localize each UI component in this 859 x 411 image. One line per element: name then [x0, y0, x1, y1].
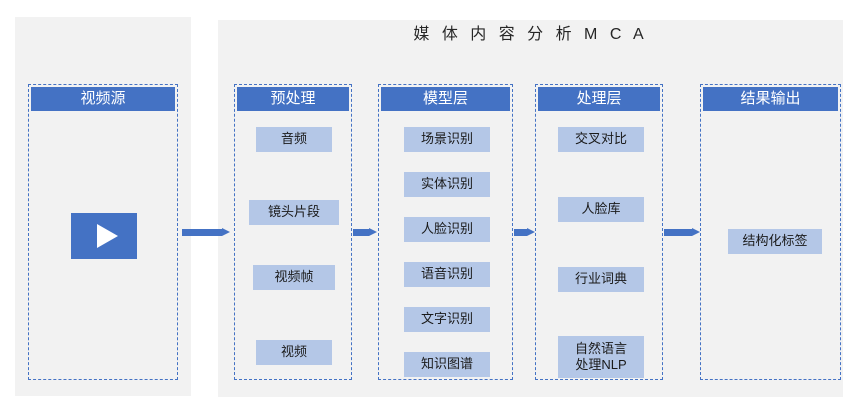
list-item[interactable]: 语音识别 [404, 262, 490, 287]
arrow-shaft [664, 229, 692, 236]
column-body-processing-layer: 交叉对比 人脸库 行业词典 自然语言 处理NLP [536, 113, 662, 379]
list-item[interactable]: 交叉对比 [558, 127, 644, 152]
arrow-head [692, 228, 700, 236]
list-item[interactable]: 实体识别 [404, 172, 490, 197]
column-body-model-layer: 场景识别 实体识别 人脸识别 语音识别 文字识别 知识图谱 [379, 113, 512, 379]
arrow-shaft [353, 229, 369, 236]
arrow-model-to-processing [514, 228, 535, 237]
arrow-head [527, 228, 535, 236]
list-item[interactable]: 人脸库 [558, 197, 644, 222]
arrow-shaft [182, 229, 222, 236]
column-header-result-output: 结果输出 [703, 87, 838, 111]
play-triangle-icon [97, 224, 118, 248]
arrow-head [222, 228, 230, 236]
list-item[interactable]: 结构化标签 [728, 229, 822, 254]
play-button-icon[interactable] [71, 213, 137, 259]
column-model-layer[interactable]: 模型层 场景识别 实体识别 人脸识别 语音识别 文字识别 知识图谱 [378, 84, 513, 380]
list-item[interactable]: 镜头片段 [249, 200, 339, 225]
column-video-source[interactable]: 视频源 [28, 84, 178, 380]
diagram-canvas: 媒 体 内 容 分 析 M C A 视频源 预处理 音频 镜头片段 视频帧 视频… [0, 0, 859, 411]
arrow-head [369, 228, 377, 236]
list-item[interactable]: 自然语言 处理NLP [558, 336, 644, 378]
arrow-preprocess-to-model [353, 228, 377, 237]
list-item[interactable]: 行业词典 [558, 267, 644, 292]
list-item[interactable]: 视频 [256, 340, 332, 365]
list-item[interactable]: 人脸识别 [404, 217, 490, 242]
arrow-processing-to-output [664, 228, 700, 237]
column-body-result-output: 结构化标签 [701, 113, 840, 379]
arrow-source-to-preprocess [182, 228, 230, 237]
column-body-preprocess: 音频 镜头片段 视频帧 视频 [235, 113, 351, 379]
arrow-shaft [514, 229, 527, 236]
column-header-video-source: 视频源 [31, 87, 175, 111]
column-header-model-layer: 模型层 [381, 87, 510, 111]
column-body-video-source [29, 113, 177, 379]
list-item[interactable]: 场景识别 [404, 127, 490, 152]
list-item[interactable]: 音频 [256, 127, 332, 152]
list-item[interactable]: 文字识别 [404, 307, 490, 332]
column-processing-layer[interactable]: 处理层 交叉对比 人脸库 行业词典 自然语言 处理NLP [535, 84, 663, 380]
list-item[interactable]: 视频帧 [253, 265, 335, 290]
column-preprocess[interactable]: 预处理 音频 镜头片段 视频帧 视频 [234, 84, 352, 380]
column-header-preprocess: 预处理 [237, 87, 349, 111]
column-header-processing-layer: 处理层 [538, 87, 660, 111]
page-title: 媒 体 内 容 分 析 M C A [218, 20, 843, 44]
list-item[interactable]: 知识图谱 [404, 352, 490, 377]
column-result-output[interactable]: 结果输出 结构化标签 [700, 84, 841, 380]
